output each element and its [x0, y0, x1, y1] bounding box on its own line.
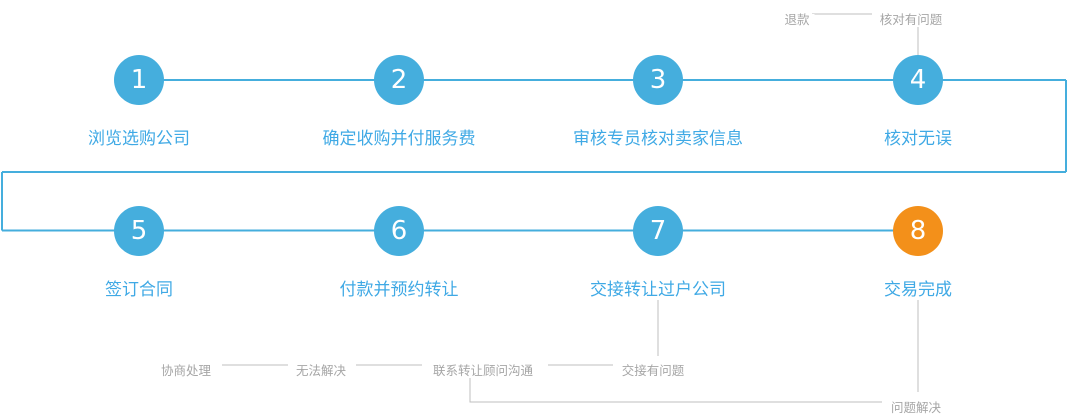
annotation-bottom-2: 联系转让顾问沟通 [428, 365, 538, 378]
step-node-8[interactable]: 8 [893, 206, 943, 256]
step-label-8: 交易完成 [884, 282, 952, 299]
annotation-bottom-3: 交接有问题 [617, 365, 690, 378]
step-node-4[interactable]: 4 [893, 55, 943, 105]
step-label-5: 签订合同 [105, 282, 173, 299]
step-node-5[interactable]: 5 [114, 206, 164, 256]
step-node-6[interactable]: 6 [374, 206, 424, 256]
step-node-2[interactable]: 2 [374, 55, 424, 105]
step-node-3[interactable]: 3 [633, 55, 683, 105]
step-label-3: 审核专员核对卖家信息 [573, 131, 743, 148]
step-node-7[interactable]: 7 [633, 206, 683, 256]
step-node-1[interactable]: 1 [114, 55, 164, 105]
step-label-6: 付款并预约转让 [340, 282, 459, 299]
annotation-top-1: 核对有问题 [875, 14, 948, 27]
annotation-bottom-4: 问题解决 [886, 402, 946, 415]
annotation-bottom-1: 无法解决 [291, 365, 351, 378]
step-label-1: 浏览选购公司 [88, 131, 190, 148]
step-label-7: 交接转让过户公司 [590, 282, 726, 299]
annotation-top-0: 退款 [779, 14, 814, 27]
step-label-4: 核对无误 [884, 131, 952, 148]
annotation-bottom-0: 协商处理 [156, 365, 216, 378]
process-flow-diagram: 1浏览选购公司2确定收购并付服务费3审核专员核对卖家信息4核对无误5签订合同6付… [0, 0, 1070, 415]
step-label-2: 确定收购并付服务费 [323, 131, 476, 148]
